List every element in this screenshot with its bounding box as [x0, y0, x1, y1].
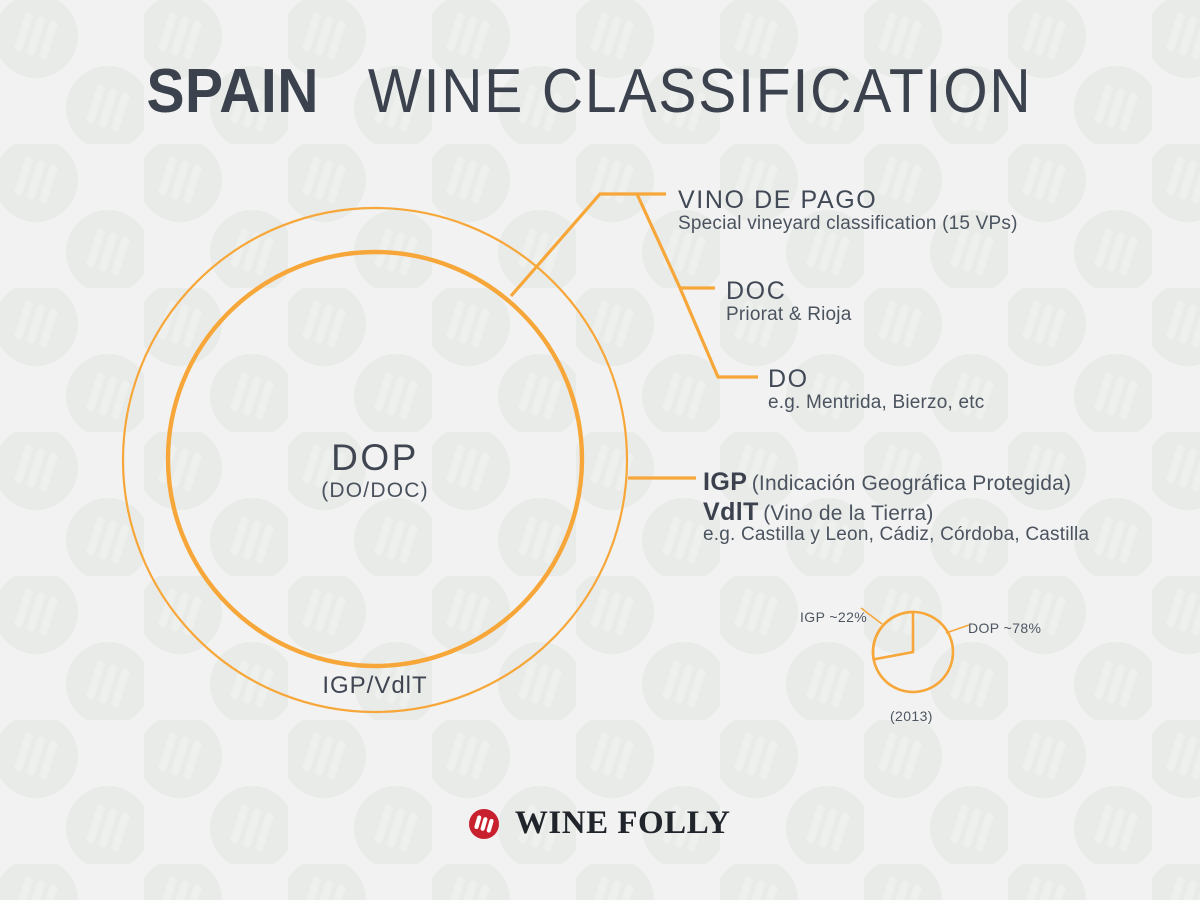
- pie-label-year: (2013): [890, 708, 933, 724]
- callout-subtext-doc: Priorat & Rioja: [726, 304, 852, 326]
- wine-folly-mark-icon: [469, 809, 499, 839]
- callout-subtext-do: e.g. Mentrida, Bierzo, etc: [768, 392, 984, 414]
- pie-label-dop: DOP ~78%: [968, 620, 1041, 636]
- callout-heading-vino-de-pago: VINO DE PAGO: [678, 186, 877, 215]
- pie-label-igp: IGP ~22%: [800, 609, 867, 625]
- callout-expansion-igp: (Indicación Geográfica Protegida): [752, 472, 1071, 495]
- callout-heading-do: DO: [768, 365, 809, 394]
- footer-logo: WINE FOLLY: [0, 805, 1200, 842]
- callout-line-vdlt: VdlT (Vino de la Tierra): [703, 498, 934, 527]
- dop-label-sub: (DO/DOC): [175, 478, 575, 504]
- callout-abbr-vdlt: VdlT: [703, 498, 759, 526]
- callout-subtext-vino-de-pago: Special vineyard classification (15 VPs): [678, 213, 1018, 235]
- dop-center-label: DOP (DO/DOC): [175, 438, 575, 504]
- callout-heading-doc: DOC: [726, 277, 786, 306]
- callout-line-igp: IGP (Indicación Geográfica Protegida): [703, 468, 1071, 497]
- dop-label-main: DOP: [175, 438, 575, 478]
- callout-subtext-igp-vdlt: e.g. Castilla y Leon, Cádiz, Córdoba, Ca…: [703, 524, 1089, 546]
- pie-chart-labels: IGP ~22% DOP ~78% (2013): [790, 595, 1070, 735]
- brand-name: WINE FOLLY: [515, 805, 731, 842]
- callout-abbr-igp: IGP: [703, 468, 747, 496]
- igp-vdlt-ring-label: IGP/VdlT: [175, 672, 575, 700]
- callout-expansion-vdlt: (Vino de la Tierra): [763, 502, 933, 525]
